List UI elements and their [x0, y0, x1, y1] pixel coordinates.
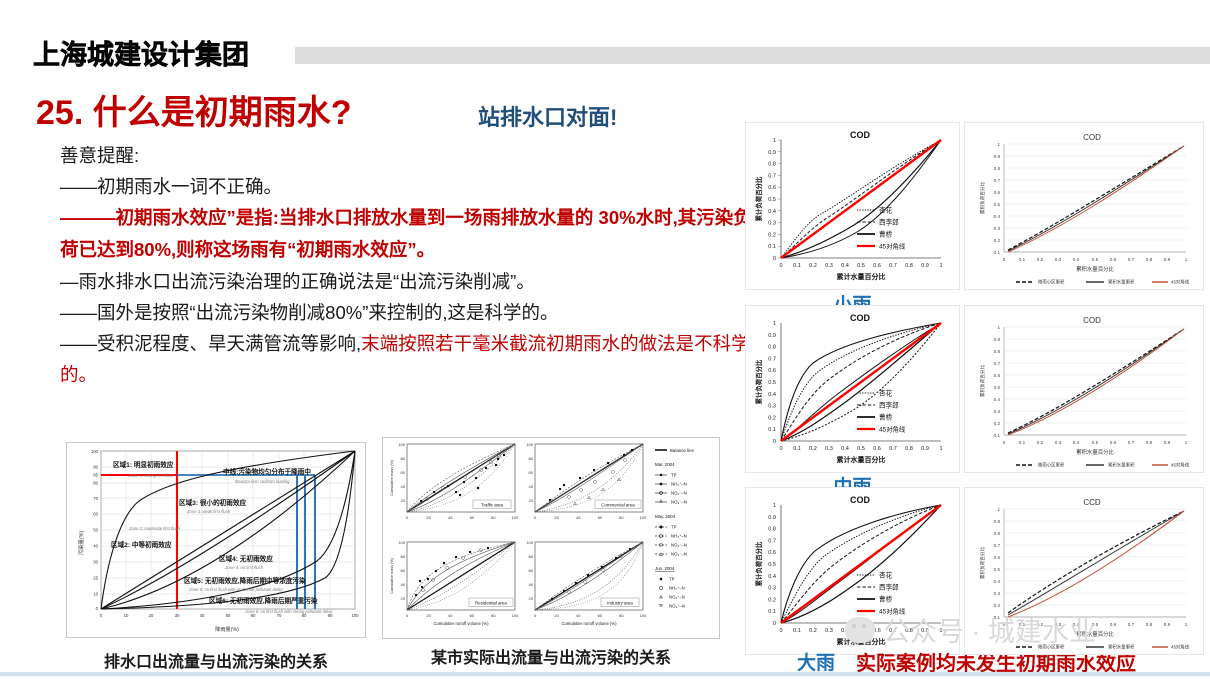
cod1-ylabel: 累计负荷百分比 — [754, 176, 763, 221]
svg-text:1: 1 — [997, 325, 1000, 330]
svg-text:30: 30 — [93, 560, 98, 565]
svg-text:0.3: 0.3 — [768, 586, 776, 592]
svg-text:1: 1 — [939, 628, 942, 634]
svg-text:0.6: 0.6 — [873, 628, 881, 634]
svg-text:0.5: 0.5 — [994, 385, 1001, 390]
zone6-en-label: Zone 6: no first flush with strong pollu… — [244, 609, 333, 614]
svg-text:80: 80 — [401, 456, 406, 461]
svg-text:0.9: 0.9 — [1164, 257, 1171, 262]
svg-text:1: 1 — [773, 321, 776, 327]
svg-text:0.8: 0.8 — [1146, 257, 1153, 262]
svg-text:0.3: 0.3 — [994, 226, 1001, 231]
zone-relationship-chart: 100 90 85 80 70 60 50 40 30 25 10 0 0 10… — [66, 442, 366, 638]
cod-chart-light-rain: COD 10.90.8 0.70.60.5 0.40.30.2 0.10 00.… — [745, 122, 960, 290]
svg-text:50: 50 — [93, 528, 98, 533]
svg-text:80: 80 — [491, 613, 496, 618]
svg-text:0.3: 0.3 — [768, 404, 776, 410]
svg-text:杏花: 杏花 — [879, 570, 893, 579]
ccd3-ylabel: 累积负荷百分比 — [979, 547, 986, 580]
ccd2-title: COD — [1083, 316, 1101, 325]
zone-chart-xlabel: 降雨量(%) — [215, 625, 239, 633]
svg-text:0.5: 0.5 — [1092, 257, 1099, 262]
svg-text:0.2: 0.2 — [809, 263, 817, 269]
svg-text:0.2: 0.2 — [1037, 257, 1044, 262]
svg-text:0.1: 0.1 — [768, 609, 776, 615]
svg-text:0.5: 0.5 — [994, 567, 1001, 572]
cod-chart-medium-rain: COD 10.90.8 0.70.60.5 0.40.30.2 0.10 00.… — [745, 305, 960, 473]
zone3-cn-label: 区域3: 很小的初雨效应 — [179, 498, 246, 507]
svg-text:0.5: 0.5 — [994, 202, 1001, 207]
cod3-ylabel: 累计负荷百分比 — [754, 541, 763, 586]
zone-chart-ylabel: 污染量(%) — [77, 531, 85, 556]
svg-text:0.9: 0.9 — [1164, 622, 1171, 627]
bisector-en-label: Bisector line: Uniform loading — [235, 479, 290, 484]
svg-text:70: 70 — [93, 496, 98, 501]
blue-annotation-note: 站排水口对面! — [478, 100, 617, 132]
svg-text:曹桥: 曹桥 — [879, 594, 893, 603]
svg-text:0: 0 — [1003, 622, 1006, 627]
svg-text:NO₃⁻–N: NO₃⁻–N — [669, 604, 685, 609]
bisector-cn-label: 中线:污染物均匀分布于降雨中 — [223, 467, 311, 476]
svg-text:0.7: 0.7 — [889, 446, 897, 452]
svg-text:0.1: 0.1 — [1019, 257, 1026, 262]
svg-text:45对角线: 45对角线 — [879, 424, 906, 433]
svg-text:0.1: 0.1 — [793, 263, 801, 269]
ccd2-ylabel: 累积负荷百分比 — [979, 365, 986, 398]
svg-text:40: 40 — [93, 544, 98, 549]
svg-text:0.9: 0.9 — [768, 333, 776, 339]
svg-text:0.6: 0.6 — [1110, 622, 1117, 627]
svg-text:60: 60 — [598, 515, 603, 520]
svg-text:85: 85 — [93, 473, 98, 478]
svg-text:0.8: 0.8 — [1146, 440, 1153, 445]
svg-text:NH₄⁺–N: NH₄⁺–N — [671, 534, 687, 539]
svg-text:0: 0 — [534, 515, 537, 520]
zone4-cn-label: 区域4: 无初雨效应 — [219, 554, 273, 563]
cod3-title: COD — [850, 495, 871, 505]
svg-text:0.2: 0.2 — [994, 421, 1001, 426]
svg-text:0.2: 0.2 — [994, 238, 1001, 243]
svg-text:45对角线: 45对角线 — [1171, 462, 1190, 469]
svg-text:1: 1 — [939, 263, 942, 269]
slide-body-text: 善意提醒: ——初期雨水一词不正确。 ———初期雨水效应”是指:当排水口排放水量… — [60, 140, 760, 390]
svg-text:80: 80 — [619, 515, 624, 520]
svg-text:0.3: 0.3 — [994, 591, 1001, 596]
zone-chart-caption: 排水口出流量与出流污染的关系 — [66, 648, 366, 672]
svg-text:1: 1 — [773, 503, 776, 509]
zone4-en-label: Zone 4: no first flush — [224, 565, 264, 570]
svg-text:100: 100 — [526, 442, 533, 447]
svg-text:0.4: 0.4 — [768, 392, 776, 398]
svg-text:40: 40 — [401, 484, 406, 489]
svg-text:1: 1 — [773, 138, 776, 144]
svg-text:0.4: 0.4 — [1073, 622, 1080, 627]
svg-text:0.7: 0.7 — [1128, 622, 1135, 627]
svg-text:0.3: 0.3 — [825, 628, 833, 634]
svg-text:NO₂⁻–N: NO₂⁻–N — [671, 543, 687, 548]
svg-text:45对角线: 45对角线 — [879, 606, 906, 615]
ccd1-xlabel: 累积水量百分比 — [1076, 265, 1114, 273]
svg-text:西李郎: 西李郎 — [879, 582, 899, 591]
svg-text:0.3: 0.3 — [1055, 257, 1062, 262]
svg-text:0.8: 0.8 — [905, 446, 913, 452]
svg-text:0.1: 0.1 — [994, 250, 1001, 255]
svg-text:0: 0 — [1003, 440, 1006, 445]
city-chart-caption: 某市实际出流量与出流污染的关系 — [382, 644, 720, 668]
svg-text:0.6: 0.6 — [768, 550, 776, 556]
svg-text:杏花: 杏花 — [879, 205, 893, 214]
svg-text:May. 2004: May. 2004 — [655, 514, 676, 519]
company-logo: 上海城建设计集团 — [33, 33, 249, 72]
svg-text:60: 60 — [529, 568, 534, 573]
svg-text:0: 0 — [406, 613, 409, 618]
svg-text:0.8: 0.8 — [768, 162, 776, 168]
svg-text:0.1: 0.1 — [768, 244, 776, 250]
svg-text:NO₂⁻–N: NO₂⁻–N — [671, 491, 687, 496]
svg-text:0.2: 0.2 — [1037, 440, 1044, 445]
cod-chart-heavy-rain: COD 10.90.8 0.70.60.5 0.40.30.2 0.10 00.… — [745, 487, 960, 655]
svg-text:0.7: 0.7 — [994, 543, 1001, 548]
svg-text:0.3: 0.3 — [768, 221, 776, 227]
zone2-cn-label: 区域2: 中等初雨效应 — [111, 540, 172, 549]
residential-xlabel: Cumulative runoff volume (%) — [433, 621, 489, 626]
svg-text:0.6: 0.6 — [994, 373, 1001, 378]
svg-text:20: 20 — [529, 498, 534, 503]
svg-text:Balance line: Balance line — [670, 448, 694, 453]
svg-text:NH₄⁺–N: NH₄⁺–N — [669, 586, 685, 591]
svg-text:0.1: 0.1 — [793, 628, 801, 634]
svg-text:0.9: 0.9 — [768, 515, 776, 521]
panel-label-traffic: Traffic area — [481, 502, 504, 507]
svg-text:0: 0 — [779, 446, 782, 452]
svg-text:100: 100 — [640, 613, 647, 618]
svg-text:0.3: 0.3 — [1055, 440, 1062, 445]
svg-text:0.2: 0.2 — [809, 446, 817, 452]
svg-text:40: 40 — [448, 515, 453, 520]
svg-text:100: 100 — [91, 449, 99, 454]
svg-text:0.5: 0.5 — [768, 562, 776, 568]
svg-text:20: 20 — [401, 596, 406, 601]
svg-text:0.5: 0.5 — [1092, 440, 1099, 445]
svg-text:25: 25 — [93, 576, 98, 581]
svg-text:NO₃⁻–N: NO₃⁻–N — [671, 500, 687, 505]
svg-text:0.4: 0.4 — [841, 263, 849, 269]
svg-text:0.1: 0.1 — [793, 446, 801, 452]
svg-text:80: 80 — [619, 613, 624, 618]
svg-text:60: 60 — [93, 512, 98, 517]
svg-text:0.8: 0.8 — [994, 531, 1001, 536]
svg-text:0: 0 — [406, 515, 409, 520]
svg-text:10: 10 — [93, 592, 98, 597]
svg-text:0.4: 0.4 — [768, 574, 776, 580]
svg-text:0.7: 0.7 — [994, 361, 1001, 366]
svg-text:Cumulative mass (%): Cumulative mass (%) — [390, 459, 394, 496]
svg-text:1: 1 — [1185, 257, 1188, 262]
bottom-divider — [0, 672, 1210, 676]
svg-text:0.2: 0.2 — [809, 628, 817, 634]
svg-text:降雨小区累积: 降雨小区累积 — [1038, 644, 1065, 651]
svg-text:曹桥: 曹桥 — [879, 412, 893, 421]
svg-text:0.4: 0.4 — [994, 214, 1001, 219]
svg-text:40: 40 — [401, 582, 406, 587]
svg-text:0.9: 0.9 — [1164, 440, 1171, 445]
svg-text:0.5: 0.5 — [857, 263, 865, 269]
svg-text:100: 100 — [512, 515, 519, 520]
svg-text:0.2: 0.2 — [1037, 622, 1044, 627]
svg-text:60: 60 — [401, 568, 406, 573]
svg-text:40: 40 — [576, 613, 581, 618]
svg-text:0.8: 0.8 — [905, 263, 913, 269]
svg-text:20: 20 — [554, 613, 559, 618]
svg-text:Mar. 2004: Mar. 2004 — [655, 462, 675, 467]
svg-text:0.1: 0.1 — [994, 615, 1001, 620]
svg-text:0.7: 0.7 — [1128, 257, 1135, 262]
svg-text:0.4: 0.4 — [994, 579, 1001, 584]
svg-text:100: 100 — [398, 442, 405, 447]
body-line-1: ——初期雨水一词不正确。 — [60, 171, 760, 202]
panel-label-industry: Industry area — [607, 600, 633, 605]
svg-text:1: 1 — [1185, 622, 1188, 627]
svg-text:60: 60 — [470, 613, 475, 618]
svg-text:0: 0 — [779, 263, 782, 269]
svg-text:0.4: 0.4 — [1073, 440, 1080, 445]
svg-text:NO₃⁻–N: NO₃⁻–N — [671, 552, 687, 557]
svg-text:0.4: 0.4 — [841, 446, 849, 452]
zone5-cn-label: 区域5: 无初雨效应,降雨后期中等浓度污染 — [184, 576, 306, 585]
svg-text:0.3: 0.3 — [994, 409, 1001, 414]
svg-text:0: 0 — [534, 613, 537, 618]
svg-text:0.5: 0.5 — [857, 446, 865, 452]
svg-text:0.8: 0.8 — [994, 166, 1001, 171]
svg-text:0.6: 0.6 — [873, 263, 881, 269]
svg-text:0.6: 0.6 — [994, 555, 1001, 560]
cod1-xlabel: 累计水量百分比 — [837, 272, 886, 281]
svg-text:0.8: 0.8 — [1146, 622, 1153, 627]
zone1-cn-label: 区域1: 明显初雨效应 — [113, 460, 174, 469]
zone6-cn-label: 区域6: 无初雨效应,降雨后期严重污染 — [209, 596, 318, 605]
svg-text:45对角线: 45对角线 — [879, 241, 906, 250]
svg-text:20: 20 — [554, 515, 559, 520]
svg-text:90: 90 — [93, 465, 98, 470]
body-line-4: ——国外是按照“出流污染物削减80%”来控制的,这是科学的。 — [60, 297, 760, 328]
svg-text:0.7: 0.7 — [768, 173, 776, 179]
svg-text:0.8: 0.8 — [768, 527, 776, 533]
svg-text:西李郎: 西李郎 — [879, 400, 899, 409]
zone1-en-label: Zone 1: strong first flush — [128, 473, 175, 478]
svg-text:0.7: 0.7 — [768, 356, 776, 362]
svg-text:0.5: 0.5 — [1092, 622, 1099, 627]
svg-text:0.5: 0.5 — [857, 628, 865, 634]
svg-text:20: 20 — [149, 613, 154, 618]
svg-text:0.7: 0.7 — [889, 263, 897, 269]
svg-text:100: 100 — [351, 613, 359, 618]
svg-text:80: 80 — [529, 456, 534, 461]
svg-text:80: 80 — [93, 481, 98, 486]
page-title: 25. 什么是初期雨水? — [36, 85, 351, 134]
svg-text:Jun. 2004: Jun. 2004 — [655, 566, 675, 571]
svg-text:0.9: 0.9 — [994, 337, 1001, 342]
svg-text:0: 0 — [1003, 257, 1006, 262]
svg-text:Cumulative mass (%): Cumulative mass (%) — [390, 557, 394, 594]
svg-text:累积水量累积: 累积水量累积 — [1108, 462, 1135, 469]
svg-text:降雨小区累积: 降雨小区累积 — [1038, 279, 1065, 286]
svg-text:0.5: 0.5 — [768, 197, 776, 203]
svg-text:100: 100 — [512, 613, 519, 618]
svg-text:50: 50 — [226, 613, 231, 618]
svg-text:0.4: 0.4 — [841, 628, 849, 634]
svg-text:TP: TP — [671, 525, 677, 530]
svg-text:100: 100 — [398, 540, 405, 545]
ccd1-ylabel: 累积负荷百分比 — [979, 182, 986, 215]
svg-text:0.6: 0.6 — [873, 446, 881, 452]
svg-text:40: 40 — [576, 515, 581, 520]
svg-text:80: 80 — [401, 554, 406, 559]
svg-text:0: 0 — [100, 613, 103, 618]
svg-text:NH₄⁺–N: NH₄⁺–N — [671, 482, 687, 487]
body-line-0: 善意提醒: — [60, 140, 760, 171]
zone2-en-label: Zone 2: moderate first flush — [128, 526, 181, 531]
body-line-3: —雨水排水口出流污染治理的正确说法是“出流污染削减”。 — [60, 266, 760, 297]
svg-text:1: 1 — [1185, 440, 1188, 445]
svg-text:1: 1 — [997, 507, 1000, 512]
svg-text:0.4: 0.4 — [1073, 257, 1080, 262]
body-line-2: ———初期雨水效应”是指:当排水口排放水量到一场雨排放水量的 30%水时,其污染… — [60, 202, 760, 266]
body-line-5: ——受积泥程度、旱天满管流等影响,末端按照若干毫米截流初期雨水的做法是不科学的。 — [60, 328, 760, 390]
svg-text:0.9: 0.9 — [994, 154, 1001, 159]
svg-text:曹桥: 曹桥 — [879, 229, 893, 238]
svg-text:0.2: 0.2 — [994, 603, 1001, 608]
svg-text:45对角线: 45对角线 — [1171, 644, 1190, 651]
svg-text:20: 20 — [426, 515, 431, 520]
ccd3-title: CCD — [1083, 498, 1101, 507]
panel-label-commercial: Commercial area — [601, 502, 635, 507]
svg-text:0.7: 0.7 — [889, 628, 897, 634]
svg-text:0.4: 0.4 — [994, 397, 1001, 402]
cod1-title: COD — [850, 130, 871, 140]
scatter-legend: Balance line Mar. 2004 TP NH₄⁺–N NO₂⁻–N … — [655, 448, 694, 609]
svg-text:100: 100 — [526, 540, 533, 545]
svg-text:80: 80 — [491, 515, 496, 520]
svg-text:20: 20 — [426, 613, 431, 618]
svg-text:0: 0 — [779, 628, 782, 634]
svg-text:40: 40 — [200, 613, 205, 618]
industry-xlabel: Cumulative runoff volume (%) — [561, 621, 617, 626]
svg-text:0.1: 0.1 — [994, 433, 1001, 438]
svg-text:20: 20 — [401, 498, 406, 503]
cod2-title: COD — [850, 313, 871, 323]
svg-text:0: 0 — [773, 439, 776, 445]
svg-text:0: 0 — [773, 256, 776, 262]
svg-text:0.6: 0.6 — [768, 185, 776, 191]
cod3-xlabel: 累计水量百分比 — [837, 637, 886, 646]
label-heavy-rain: 大雨 — [786, 648, 846, 675]
svg-text:0.8: 0.8 — [768, 345, 776, 351]
svg-text:0.7: 0.7 — [768, 538, 776, 544]
svg-text:0.9: 0.9 — [994, 519, 1001, 524]
svg-text:0.3: 0.3 — [1055, 622, 1062, 627]
svg-text:累积水量累积: 累积水量累积 — [1108, 644, 1135, 651]
svg-text:0.6: 0.6 — [994, 190, 1001, 195]
svg-text:累积水量累积: 累积水量累积 — [1108, 279, 1135, 286]
svg-text:0.7: 0.7 — [1128, 440, 1135, 445]
zone5-en-label: Zone 5: no first flush with moderate pol… — [188, 587, 283, 592]
svg-text:0.9: 0.9 — [921, 263, 929, 269]
svg-text:TP: TP — [671, 473, 677, 478]
ccd-chart-medium-rain: COD 10.90.8 0.70.60.5 0.40.30.2 0.1 00.1… — [964, 305, 1204, 473]
svg-text:0.3: 0.3 — [825, 263, 833, 269]
svg-text:0.6: 0.6 — [1110, 440, 1117, 445]
svg-text:0.1: 0.1 — [1019, 440, 1026, 445]
svg-text:0.2: 0.2 — [768, 232, 776, 238]
svg-text:西李郎: 西李郎 — [879, 217, 899, 226]
svg-text:80: 80 — [529, 554, 534, 559]
svg-text:杏花: 杏花 — [879, 388, 893, 397]
header-decor-bar — [295, 47, 1210, 64]
svg-text:TP: TP — [669, 577, 675, 582]
svg-text:0.2: 0.2 — [768, 597, 776, 603]
svg-text:40: 40 — [529, 484, 534, 489]
svg-text:0.3: 0.3 — [825, 446, 833, 452]
svg-text:60: 60 — [401, 470, 406, 475]
svg-text:0.5: 0.5 — [768, 380, 776, 386]
svg-text:0.1: 0.1 — [768, 427, 776, 433]
svg-text:0.9: 0.9 — [768, 150, 776, 156]
zone3-en-label: Zone 3: weak first flush — [186, 509, 231, 514]
svg-text:NO₂⁻–N: NO₂⁻–N — [669, 595, 685, 600]
cod2-xlabel: 累计水量百分比 — [837, 455, 886, 464]
ccd3-xlabel: 累积水量百分比 — [1076, 630, 1114, 638]
svg-text:0.6: 0.6 — [1110, 257, 1117, 262]
ccd1-title: COD — [1083, 133, 1101, 142]
svg-text:0.1: 0.1 — [1019, 622, 1026, 627]
svg-text:20: 20 — [529, 596, 534, 601]
ccd-chart-heavy-rain: CCD 10.90.8 0.70.60.5 0.40.30.2 0.1 00.1… — [964, 487, 1204, 655]
ccd2-xlabel: 累积水量百分比 — [1076, 448, 1114, 456]
panel-label-residential: Residential area — [475, 600, 507, 605]
svg-text:0: 0 — [773, 621, 776, 627]
svg-text:1: 1 — [997, 142, 1000, 147]
svg-text:0.9: 0.9 — [921, 446, 929, 452]
cod2-ylabel: 累计负荷百分比 — [754, 359, 763, 404]
svg-text:100: 100 — [640, 515, 647, 520]
svg-text:30: 30 — [175, 613, 180, 618]
svg-text:0.6: 0.6 — [768, 368, 776, 374]
svg-text:0.8: 0.8 — [994, 349, 1001, 354]
svg-text:1: 1 — [939, 446, 942, 452]
svg-text:0.7: 0.7 — [994, 178, 1001, 183]
svg-text:0: 0 — [96, 606, 99, 611]
svg-text:40: 40 — [448, 613, 453, 618]
svg-text:降雨小区累积: 降雨小区累积 — [1038, 462, 1065, 469]
svg-text:0.8: 0.8 — [905, 628, 913, 634]
svg-text:40: 40 — [529, 582, 534, 587]
ccd-chart-light-rain: COD 10.90.8 0.70.60.5 0.40.30.2 0.1 00.1… — [964, 122, 1204, 290]
city-outflow-scatter-grid: Traffic area 1008060 4020 02040 6080100 … — [382, 437, 720, 639]
svg-text:60: 60 — [529, 470, 534, 475]
svg-text:0.4: 0.4 — [768, 209, 776, 215]
svg-text:0.2: 0.2 — [768, 415, 776, 421]
svg-text:10: 10 — [124, 613, 129, 618]
svg-text:60: 60 — [598, 613, 603, 618]
body-line-5-black: ——受积泥程度、旱天满管流等影响, — [60, 333, 361, 354]
svg-text:60: 60 — [470, 515, 475, 520]
svg-text:45对角线: 45对角线 — [1171, 279, 1190, 286]
svg-text:0.9: 0.9 — [921, 628, 929, 634]
